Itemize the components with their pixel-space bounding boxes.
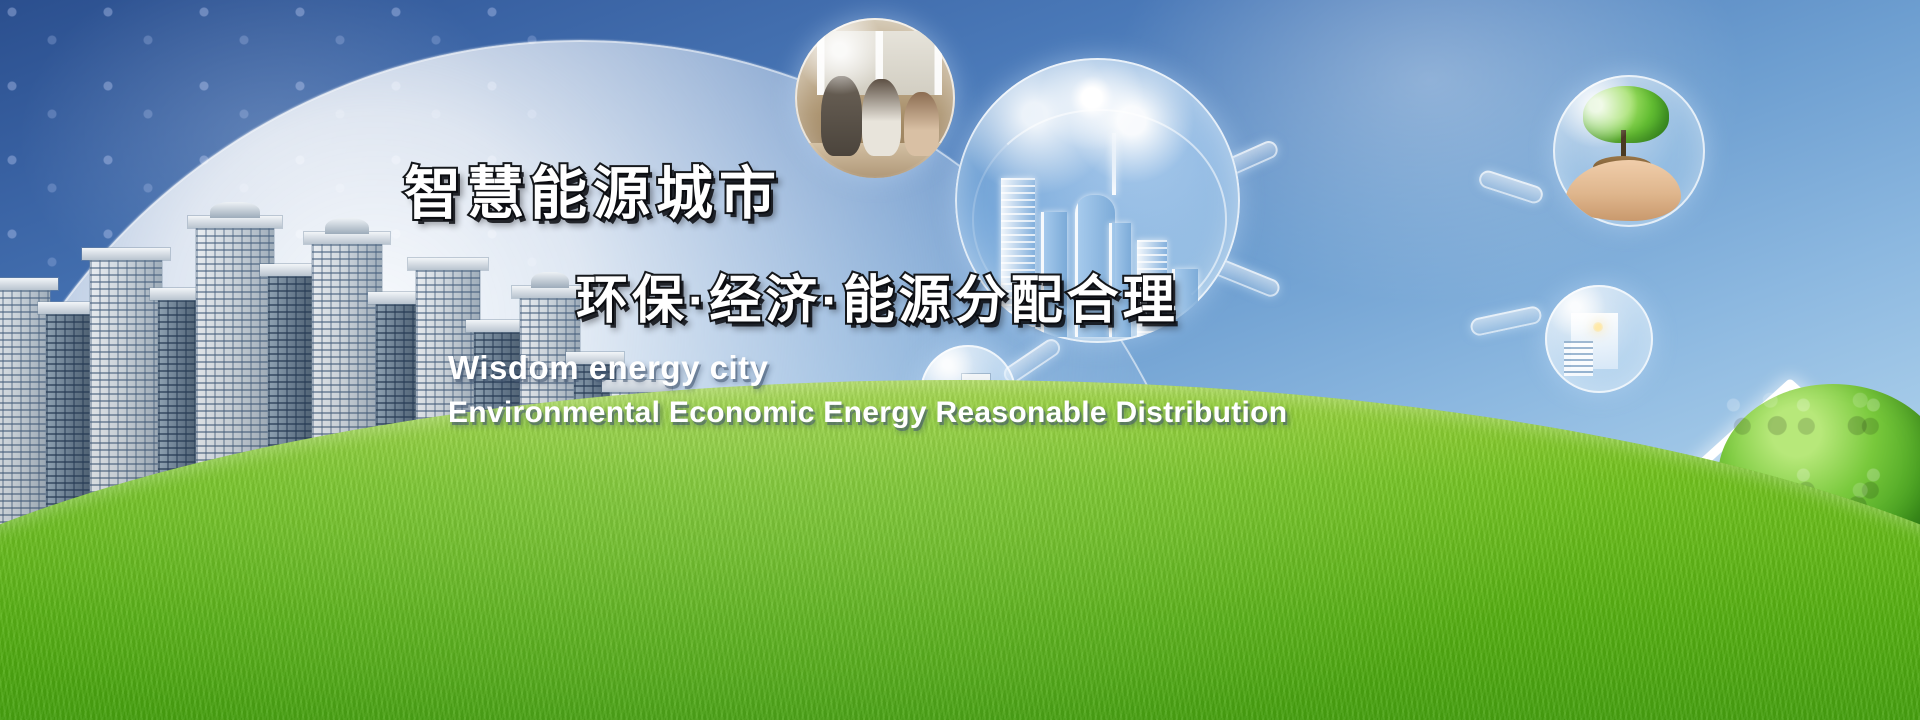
person-figure — [821, 76, 863, 156]
person-figure — [904, 92, 939, 156]
bubble-connector — [1477, 168, 1545, 206]
person-figure — [862, 79, 900, 156]
lamp-glow-icon — [1593, 322, 1603, 332]
glass-tower — [1137, 240, 1167, 337]
glass-tower — [1041, 212, 1067, 337]
hand-shape — [1565, 160, 1681, 221]
grass-hill — [0, 380, 1920, 720]
interior-blinds — [1564, 341, 1592, 376]
digital-city-bubble — [955, 58, 1240, 343]
sun-glow-icon — [1032, 58, 1152, 158]
sky-glow-left — [0, 0, 620, 400]
sky-dot-pattern — [0, 0, 560, 300]
tree-in-hand-bubble — [1553, 75, 1705, 227]
house-interior-bubble — [1545, 285, 1653, 393]
subline-primary: Wisdom energy city — [448, 349, 768, 387]
glass-tower — [1172, 269, 1198, 337]
family-photo-bubble — [795, 18, 955, 178]
tower-spire — [1112, 133, 1116, 195]
glass-tower — [1109, 223, 1131, 337]
grass-texture — [0, 380, 1920, 720]
glass-tower — [1001, 178, 1035, 338]
headline-primary: 智慧能源城市 — [404, 148, 782, 230]
bubble-connector — [1469, 305, 1543, 338]
energy-city-banner: 智慧能源城市 环保·经济·能源分配合理 Wisdom energy city E… — [0, 0, 1920, 720]
